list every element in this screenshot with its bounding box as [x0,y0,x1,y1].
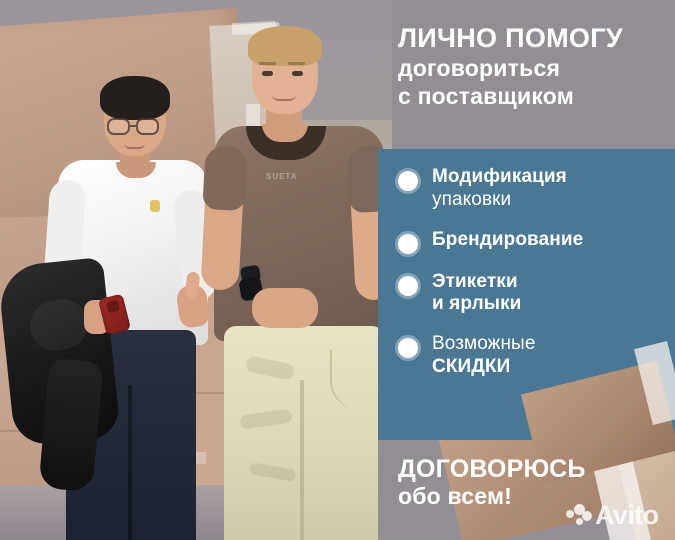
benefit-item-labels: Этикетки и ярлыки [398,271,668,317]
benefit-text: Этикетки и ярлыки [432,271,521,317]
avito-logo: Avito [566,500,659,531]
benefit-line-bold: Этикетки [432,271,521,294]
benefit-text: Возможные СКИДКИ [432,333,535,379]
avito-wordmark: Avito [595,500,659,531]
benefits-list: Модификация упаковки Брендирование Этике… [398,166,668,396]
person-right-leg-seam [300,380,304,540]
eyeglasses-bridge [130,125,136,127]
benefit-line-bold: Брендирование [432,229,583,252]
headline-line-1: ЛИЧНО ПОМОГУ [398,24,668,54]
person-right-eyebrow-right [288,62,305,65]
bullet-dot-icon [398,171,418,191]
person-right-sleeve-left [202,145,247,211]
person-left-shirt-logo [150,200,160,212]
footer-line-1: ДОГОВОРЮСЬ [398,455,586,483]
headline-block: ЛИЧНО ПОМОГУ договориться с поставщиком [398,24,668,110]
person-right-eye-right [292,71,303,76]
bullet-dot-icon [398,338,418,358]
benefit-item-branding: Брендирование [398,229,668,254]
benefit-item-modification: Модификация упаковки [398,166,668,212]
person-right-hair [248,26,322,66]
benefit-line-light: упаковки [432,189,567,212]
headline-line-3: с поставщиком [398,82,668,110]
footer-text-block: ДОГОВОРЮСЬ обо всем! [398,455,586,510]
benefit-line-bold: СКИДКИ [432,356,535,379]
benefit-text: Брендирование [432,229,583,252]
person-right-clasped-hands [252,288,318,328]
benefit-line-light: Возможные [432,333,535,356]
black-jacket-lower [38,358,103,492]
avito-dots-icon [566,504,592,528]
eyeglasses-right-lens [136,118,159,135]
person-right-eye-left [262,71,273,76]
person-left-smile [124,143,145,149]
footer-line-2: обо всем! [398,483,586,510]
bullet-dot-icon [398,276,418,296]
benefit-item-discounts: Возможные СКИДКИ [398,333,668,379]
avito-ad-banner: SUETA ЛИЧНО ПОМОГУ договориться с постав… [0,0,675,540]
person-left-leg-seam [128,385,132,540]
eyeglasses-left-lens [107,118,130,135]
person-left-hair [100,76,170,120]
benefit-line-bold-2: и ярлыки [432,293,521,316]
headline-line-2: договориться [398,54,668,82]
benefit-line-bold: Модификация [432,166,567,189]
person-right-eyebrow-left [259,62,276,65]
person-right-shirt-print: SUETA [266,172,298,181]
person-right-smile [272,94,296,101]
promo-photo: SUETA [0,0,392,540]
bullet-dot-icon [398,234,418,254]
benefit-text: Модификация упаковки [432,166,567,212]
